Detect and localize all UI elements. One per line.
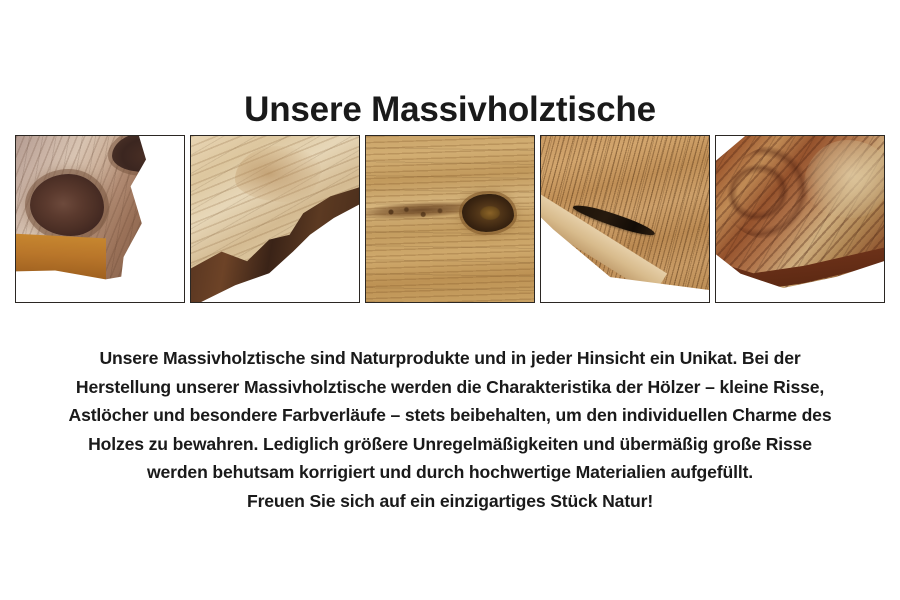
description-text: Unsere Massivholztische sind Naturproduk… xyxy=(40,344,860,515)
wood-image-golden-grain-knot xyxy=(366,136,534,302)
wood-image-burl-corner xyxy=(16,136,184,302)
description-line: werden behutsam korrigiert und durch hoc… xyxy=(40,458,860,487)
description-line: Herstellung unserer Massivholztische wer… xyxy=(40,373,860,402)
wood-swirl-figure xyxy=(235,146,321,202)
page-title: Unsere Massivholztische xyxy=(0,91,900,130)
gallery-panel-3[interactable] xyxy=(365,135,535,303)
gallery-panel-4[interactable] xyxy=(540,135,710,303)
wood-knot-primary xyxy=(30,174,104,236)
wood-image-rough-sawn-crack xyxy=(541,136,709,302)
wood-knot-core xyxy=(480,206,500,220)
description-line: Astlöcher und besondere Farbverläufe – s… xyxy=(40,401,860,430)
wood-speckles xyxy=(384,206,454,218)
description-line: Freuen Sie sich auf ein einzigartiges St… xyxy=(40,487,860,516)
wood-image-acacia-live-edge xyxy=(191,136,359,302)
product-info-banner: Unsere Massivholztische xyxy=(0,0,900,600)
description-line: Holzes zu bewahren. Lediglich größere Un… xyxy=(40,430,860,459)
wood-detail-gallery xyxy=(15,135,885,303)
gallery-panel-1[interactable] xyxy=(15,135,185,303)
gallery-panel-5[interactable] xyxy=(715,135,885,303)
wood-image-sheesham-corner xyxy=(716,136,884,302)
description-line: Unsere Massivholztische sind Naturproduk… xyxy=(40,344,860,373)
gallery-panel-2[interactable] xyxy=(190,135,360,303)
